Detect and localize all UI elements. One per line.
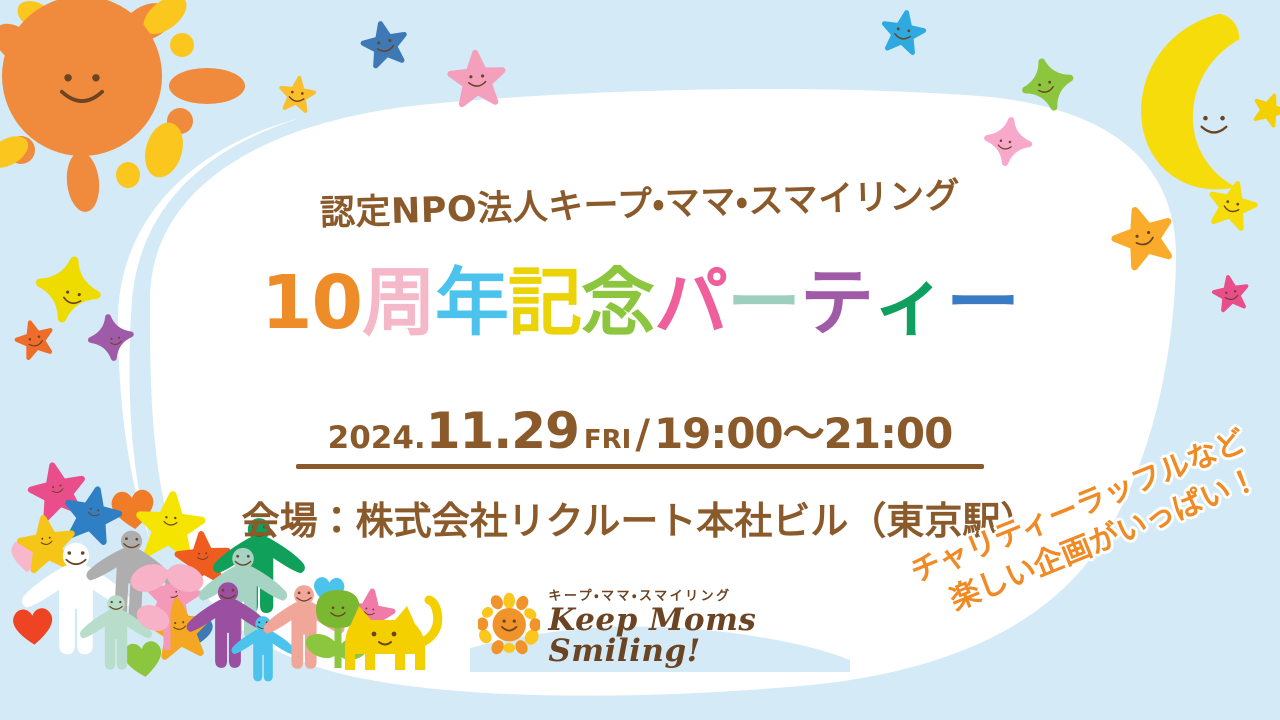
title-char-4: 記: [508, 266, 581, 340]
page-title: 10周年記念パーティー: [0, 266, 1280, 340]
logo-english-text: Keep Moms Smiling!: [548, 605, 818, 667]
sun-smile-logo-icon: [478, 584, 540, 664]
event-datetime: 2024.11.29FRI/19:00〜21:00: [0, 400, 1280, 461]
divider-rule: [296, 464, 984, 469]
brand-logo[interactable]: キープ・ママ・スマイリング Keep Moms Smiling!: [478, 583, 818, 665]
event-day-of-week: FRI: [584, 425, 631, 455]
title-char-1: 0: [312, 266, 363, 340]
title-char-0: 1: [261, 266, 312, 340]
poster-canvas: 認定NPO法人キープ・ママ・スマイリング 10周年記念パーティー 2024.11…: [0, 0, 1280, 720]
title-char-10: ー: [946, 266, 1019, 340]
title-char-8: テ: [800, 266, 873, 340]
title-char-9: ィ: [873, 266, 946, 340]
event-year: 2024.: [328, 420, 426, 456]
event-time: 19:00〜21:00: [654, 409, 952, 458]
title-char-7: ー: [727, 266, 800, 340]
title-char-3: 年: [435, 266, 508, 340]
title-char-5: 念: [581, 266, 654, 340]
title-char-2: 周: [362, 266, 435, 340]
title-char-6: パ: [654, 266, 727, 340]
datetime-separator: /: [635, 412, 650, 458]
event-month-day: 11.29: [426, 402, 579, 460]
